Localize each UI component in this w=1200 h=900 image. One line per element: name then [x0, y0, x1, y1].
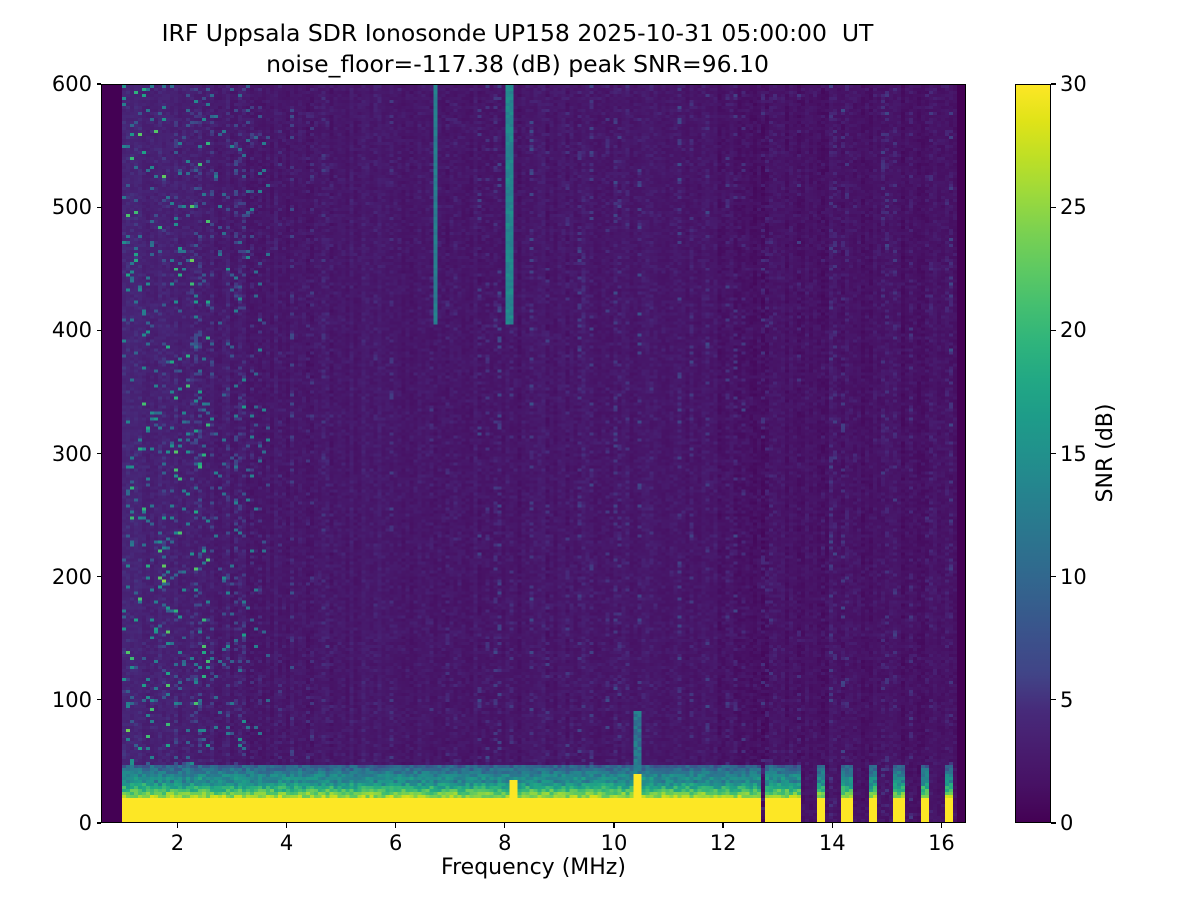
colorbar-tick-label: 15 [1060, 442, 1087, 466]
title-line-2: noise_floor=-117.38 (dB) peak SNR=96.10 [0, 49, 1035, 80]
x-axis-tick-label: 16 [928, 831, 955, 855]
x-axis-tick [832, 823, 833, 828]
y-axis-tick [97, 207, 102, 208]
x-axis-tick-label: 12 [710, 831, 737, 855]
x-axis-tick-label: 2 [171, 831, 184, 855]
colorbar-tick-label: 5 [1060, 688, 1073, 712]
ionogram-canvas [102, 85, 965, 822]
colorbar-tick [1051, 576, 1056, 577]
y-axis-tick-label: 0 [79, 811, 92, 835]
colorbar-tick-label: 20 [1060, 318, 1087, 342]
y-axis-tick-label: 300 [52, 442, 92, 466]
colorbar-tick [1051, 83, 1056, 84]
title-line-1: IRF Uppsala SDR Ionosonde UP158 2025-10-… [0, 18, 1035, 49]
colorbar-tick-label: 30 [1060, 72, 1087, 96]
colorbar-tick-label: 10 [1060, 565, 1087, 589]
y-axis-tick-label: 200 [52, 565, 92, 589]
snr-colorbar [1015, 84, 1051, 823]
colorbar-title-text: SNR (dB) [1093, 404, 1118, 503]
y-axis-tick [97, 576, 102, 577]
y-axis-tick-label: 500 [52, 195, 92, 219]
x-axis-tick [504, 823, 505, 828]
x-axis-tick-label: 4 [280, 831, 293, 855]
ionogram-plot-area [101, 84, 966, 823]
colorbar-tick [1051, 822, 1056, 823]
x-axis-tick-label: 14 [819, 831, 846, 855]
ionogram-heatmap [102, 85, 965, 822]
y-axis-tick-label: 400 [52, 318, 92, 342]
x-axis-tick [286, 823, 287, 828]
ionogram-figure: IRF Uppsala SDR Ionosonde UP158 2025-10-… [0, 0, 1200, 900]
y-axis-tick-label: 100 [52, 688, 92, 712]
x-axis-tick [177, 823, 178, 828]
x-axis-tick [613, 823, 614, 828]
colorbar-tick [1051, 330, 1056, 331]
figure-title: IRF Uppsala SDR Ionosonde UP158 2025-10-… [0, 18, 1035, 79]
y-axis-tick [97, 699, 102, 700]
x-axis-tick [395, 823, 396, 828]
y-axis-tick-label: 600 [52, 72, 92, 96]
colorbar-tick [1051, 207, 1056, 208]
colorbar-tick-label: 0 [1060, 811, 1073, 835]
x-axis-tick [722, 823, 723, 828]
x-axis-tick-label: 8 [498, 831, 511, 855]
x-axis-title: Frequency (MHz) [101, 855, 966, 880]
x-axis-tick-label: 6 [389, 831, 402, 855]
colorbar-tick [1051, 699, 1056, 700]
y-axis-tick [97, 453, 102, 454]
colorbar-tick-label: 25 [1060, 195, 1087, 219]
x-axis-tick [941, 823, 942, 828]
colorbar-tick [1051, 453, 1056, 454]
y-axis-tick [97, 330, 102, 331]
y-axis-tick [97, 83, 102, 84]
x-axis-tick-label: 10 [601, 831, 628, 855]
y-axis-tick [97, 822, 102, 823]
